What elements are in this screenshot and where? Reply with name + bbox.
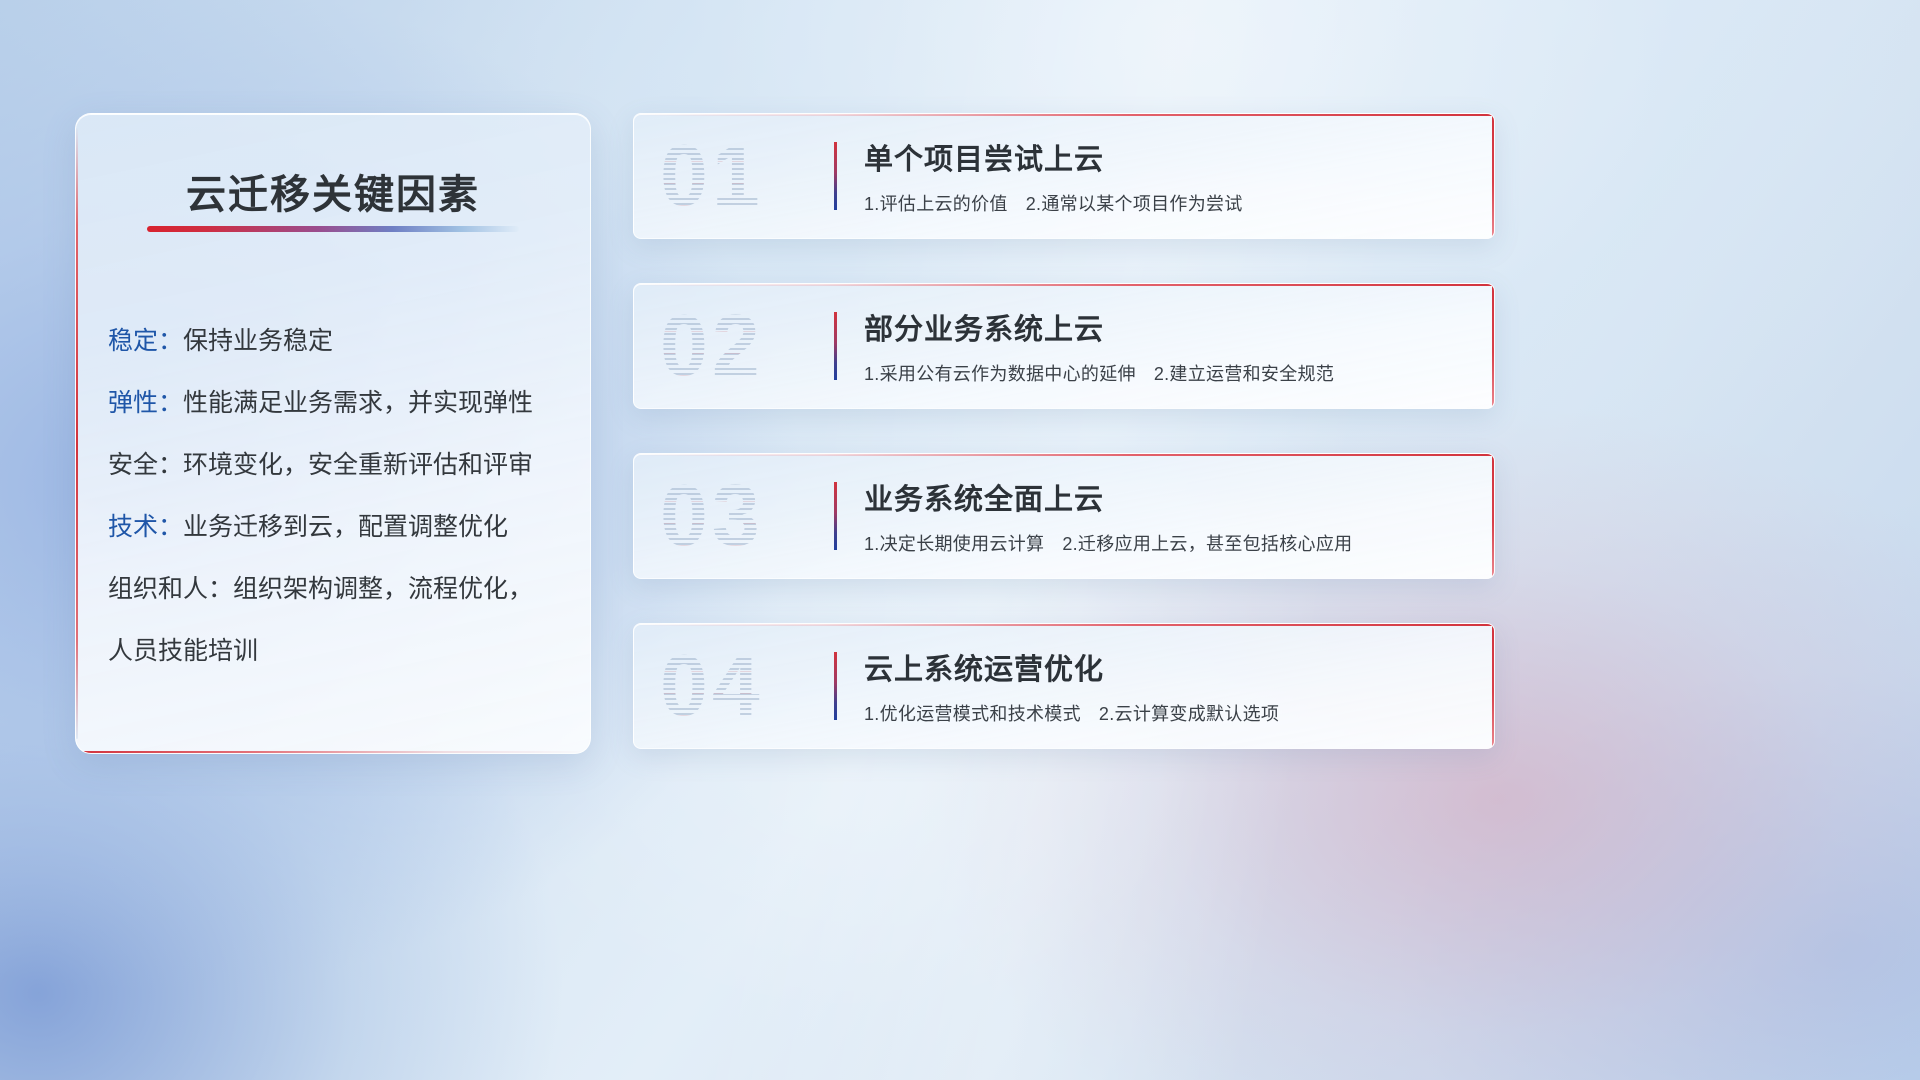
card-divider: [834, 312, 837, 380]
factor-text: 环境变化，安全重新评估和评审: [183, 451, 533, 479]
factor-label: 弹性：: [108, 389, 183, 417]
list-item: 人员技能培训: [108, 620, 566, 682]
card-body: 部分业务系统上云 1.采用公有云作为数据中心的延伸2.建立运营和安全规范: [864, 306, 1468, 386]
stage-card-03[interactable]: 03 03 业务系统全面上云 1.决定长期使用云计算2.迁移应用上云，甚至包括核…: [633, 453, 1495, 579]
list-item: 技术：业务迁移到云，配置调整优化: [108, 496, 566, 558]
card-divider: [834, 142, 837, 210]
factor-text: 性能满足业务需求，并实现弹性: [183, 389, 533, 417]
factor-label: 安全：: [108, 451, 183, 479]
factor-text: 保持业务稳定: [183, 327, 333, 355]
card-subtitle: 1.优化运营模式和技术模式2.云计算变成默认选项: [864, 700, 1468, 726]
stage-card-04[interactable]: 04 04 云上系统运营优化 1.优化运营模式和技术模式2.云计算变成默认选项: [633, 623, 1495, 749]
stage-card-02[interactable]: 02 02 部分业务系统上云 1.采用公有云作为数据中心的延伸2.建立运营和安全…: [633, 283, 1495, 409]
page-title: 云迁移关键因素: [76, 162, 590, 220]
card-body: 业务系统全面上云 1.决定长期使用云计算2.迁移应用上云，甚至包括核心应用: [864, 476, 1468, 556]
stage-card-list: 01 01 单个项目尝试上云 1.评估上云的价值2.通常以某个项目作为尝试 02…: [633, 113, 1495, 749]
factor-label: 技术：: [108, 513, 183, 541]
card-subtitle: 1.评估上云的价值2.通常以某个项目作为尝试: [864, 190, 1468, 216]
stage-number-watermark: 03: [660, 473, 764, 559]
card-point-1: 1.评估上云的价值: [864, 194, 1008, 214]
card-point-2: 2.通常以某个项目作为尝试: [1026, 194, 1243, 214]
card-point-2: 2.云计算变成默认选项: [1099, 704, 1279, 724]
factor-text: 人员技能培训: [108, 637, 258, 665]
factor-list: 稳定：保持业务稳定 弹性：性能满足业务需求，并实现弹性 安全：环境变化，安全重新…: [108, 310, 566, 682]
card-point-1: 1.决定长期使用云计算: [864, 534, 1044, 554]
card-point-1: 1.优化运营模式和技术模式: [864, 704, 1081, 724]
card-divider: [834, 482, 837, 550]
card-subtitle: 1.采用公有云作为数据中心的延伸2.建立运营和安全规范: [864, 360, 1468, 386]
list-item: 组织和人：组织架构调整，流程优化，: [108, 558, 566, 620]
title-underline: [147, 226, 519, 232]
stage-number-watermark: 01: [660, 133, 764, 219]
card-title: 云上系统运营优化: [864, 646, 1468, 688]
card-body: 单个项目尝试上云 1.评估上云的价值2.通常以某个项目作为尝试: [864, 136, 1468, 216]
key-factors-panel: 云迁移关键因素 稳定：保持业务稳定 弹性：性能满足业务需求，并实现弹性 安全：环…: [75, 113, 591, 754]
factor-label: 稳定：: [108, 327, 183, 355]
card-title: 业务系统全面上云: [864, 476, 1468, 518]
stage-number-watermark: 02: [660, 303, 764, 389]
card-point-2: 2.迁移应用上云，甚至包括核心应用: [1062, 534, 1352, 554]
factor-text: 业务迁移到云，配置调整优化: [183, 513, 508, 541]
list-item: 安全：环境变化，安全重新评估和评审: [108, 434, 566, 496]
list-item: 弹性：性能满足业务需求，并实现弹性: [108, 372, 566, 434]
factor-label: 组织和人：: [108, 575, 233, 603]
card-title: 部分业务系统上云: [864, 306, 1468, 348]
card-divider: [834, 652, 837, 720]
factor-text: 组织架构调整，流程优化，: [233, 575, 533, 603]
card-point-1: 1.采用公有云作为数据中心的延伸: [864, 364, 1136, 384]
stage-card-01[interactable]: 01 01 单个项目尝试上云 1.评估上云的价值2.通常以某个项目作为尝试: [633, 113, 1495, 239]
card-subtitle: 1.决定长期使用云计算2.迁移应用上云，甚至包括核心应用: [864, 530, 1468, 556]
stage-number-watermark: 04: [660, 643, 764, 729]
card-body: 云上系统运营优化 1.优化运营模式和技术模式2.云计算变成默认选项: [864, 646, 1468, 726]
card-title: 单个项目尝试上云: [864, 136, 1468, 178]
slide-stage: 云迁移关键因素 稳定：保持业务稳定 弹性：性能满足业务需求，并实现弹性 安全：环…: [0, 0, 1920, 1080]
card-point-2: 2.建立运营和安全规范: [1154, 364, 1334, 384]
list-item: 稳定：保持业务稳定: [108, 310, 566, 372]
